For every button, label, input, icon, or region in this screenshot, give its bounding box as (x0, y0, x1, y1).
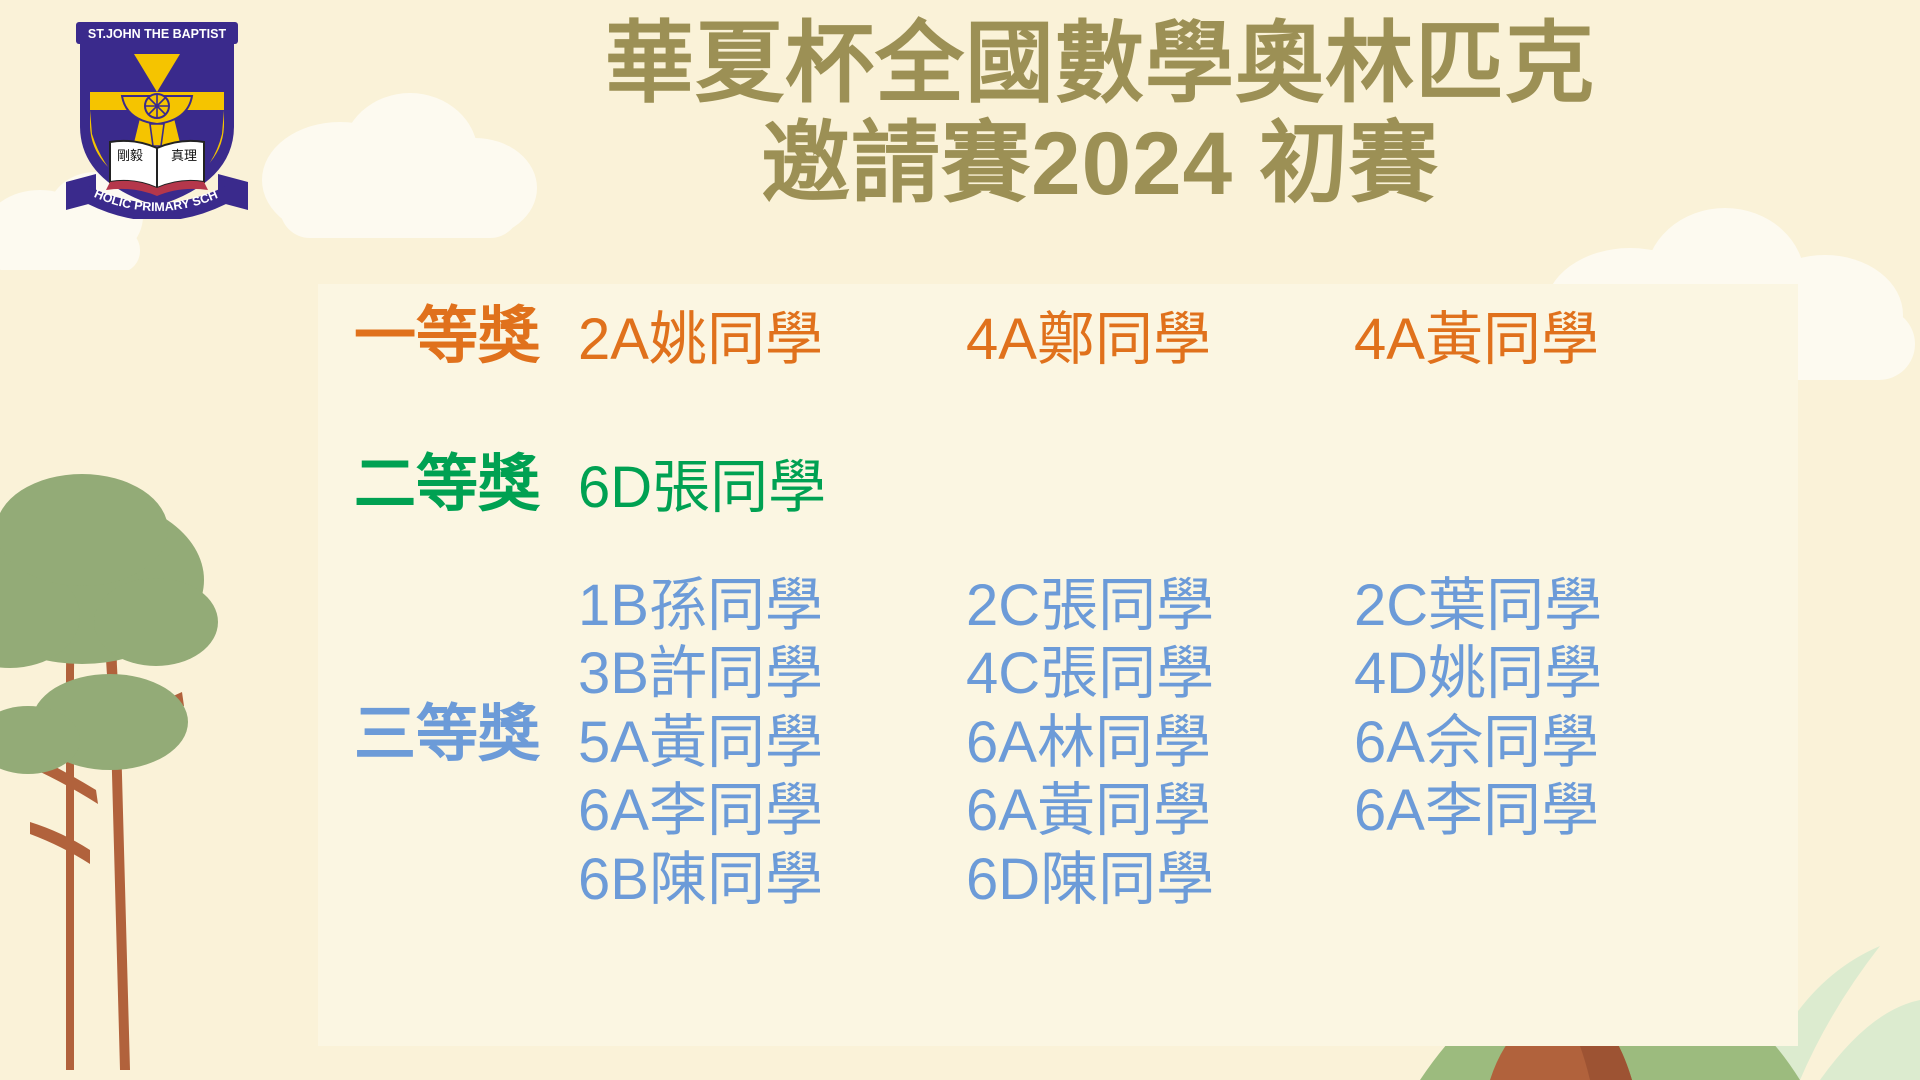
second-prize-names: 6D張同學 (578, 454, 1798, 522)
awardee: 2C葉同學 (1354, 572, 1742, 640)
awardee: 2A姚同學 (578, 306, 966, 374)
name-row: 6B陳同學 6D陳同學 (578, 846, 1798, 914)
awardee: 6D陳同學 (966, 846, 1354, 914)
title-line-1: 華夏杯全國數學奧林匹克 (605, 13, 1595, 113)
awardee: 1B孫同學 (578, 572, 966, 640)
awardee: 4A鄭同學 (966, 306, 1354, 374)
awardee: 5A黃同學 (578, 709, 966, 777)
school-crest-logo: 剛毅 真理 ST.JOHN THE BAPTIST CATHOLIC PRIMA… (62, 14, 252, 219)
title-line-2: 邀請賽2024 初賽 (420, 114, 1780, 214)
awardee: 4D姚同學 (1354, 640, 1742, 708)
third-prize-label: 三等獎 (318, 704, 578, 766)
crest-book-right-line1: 真理 (171, 148, 197, 163)
awardee: 6D張同學 (578, 454, 966, 522)
name-row: 6D張同學 (578, 454, 1798, 522)
name-row: 1B孫同學 2C張同學 2C葉同學 (578, 572, 1798, 640)
awardee: 4A黃同學 (1354, 306, 1742, 374)
awardee: 6A林同學 (966, 709, 1354, 777)
awardee: 6A佘同學 (1354, 709, 1742, 777)
award-row-first-prize: 一等獎 2A姚同學 4A鄭同學 4A黃同學 (318, 306, 1798, 374)
name-row: 3B許同學 4C張同學 4D姚同學 (578, 640, 1798, 708)
award-row-second-prize: 二等獎 6D張同學 (318, 454, 1798, 522)
awards-list: 一等獎 2A姚同學 4A鄭同學 4A黃同學 二等獎 6D張同學 三等獎 1B孫同… (318, 284, 1798, 1046)
awardee: 6A李同學 (578, 777, 966, 845)
awardee: 6A黃同學 (966, 777, 1354, 845)
awardee: 3B許同學 (578, 640, 966, 708)
tree-illustration (0, 370, 300, 1070)
awardee: 4C張同學 (966, 640, 1354, 708)
awardee: 6A李同學 (1354, 777, 1742, 845)
awardee: 2C張同學 (966, 572, 1354, 640)
name-row: 6A李同學 6A黃同學 6A李同學 (578, 777, 1798, 845)
name-row: 5A黃同學 6A林同學 6A佘同學 (578, 709, 1798, 777)
second-prize-label: 二等獎 (318, 454, 578, 516)
award-row-third-prize: 三等獎 1B孫同學 2C張同學 2C葉同學 3B許同學 4C張同學 4D姚同學 … (318, 572, 1798, 914)
name-row: 2A姚同學 4A鄭同學 4A黃同學 (578, 306, 1798, 374)
page-title: 華夏杯全國數學奧林匹克 邀請賽2024 初賽 (420, 14, 1780, 213)
third-prize-names: 1B孫同學 2C張同學 2C葉同學 3B許同學 4C張同學 4D姚同學 5A黃同… (578, 572, 1798, 914)
awardee: 6B陳同學 (578, 846, 966, 914)
crest-book-left-line1: 剛毅 (117, 148, 143, 163)
crest-top-banner-text: ST.JOHN THE BAPTIST (88, 27, 227, 41)
first-prize-names: 2A姚同學 4A鄭同學 4A黃同學 (578, 306, 1798, 374)
first-prize-label: 一等獎 (318, 306, 578, 368)
